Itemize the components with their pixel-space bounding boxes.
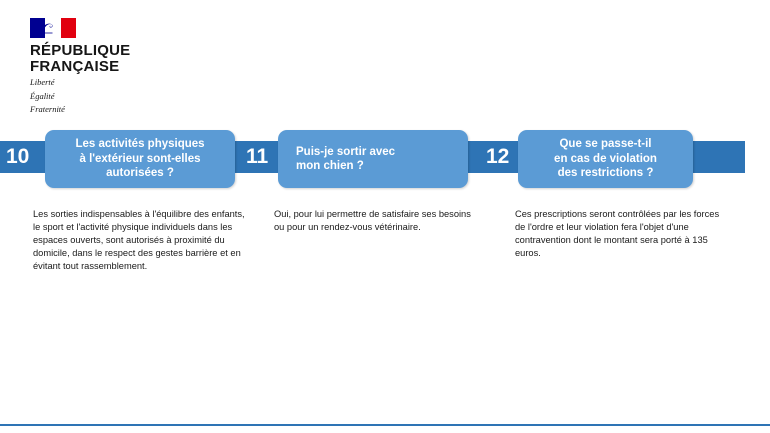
- faq-question-card-10[interactable]: Les activités physiques à l'extérieur so…: [45, 130, 235, 188]
- faq-question-card-12[interactable]: Que se passe-t-il en cas de violation de…: [518, 130, 693, 188]
- faq-answer-text-12: Ces prescriptions seront contrôlées par …: [515, 208, 730, 260]
- faq-question-text-10: Les activités physiques à l'extérieur so…: [67, 137, 212, 181]
- faq-question-text-11: Puis-je sortir avec mon chien ?: [278, 145, 468, 174]
- faq-question-text-12: Que se passe-t-il en cas de violation de…: [546, 137, 665, 181]
- faq-cards-container: Les activités physiques à l'extérieur so…: [0, 0, 770, 433]
- faq-answer-text-10: Les sorties indispensables à l'équilibre…: [33, 208, 245, 273]
- footer-divider: [0, 424, 770, 426]
- faq-question-card-11[interactable]: Puis-je sortir avec mon chien ?: [278, 130, 468, 188]
- faq-answer-text-11: Oui, pour lui permettre de satisfaire se…: [274, 208, 479, 234]
